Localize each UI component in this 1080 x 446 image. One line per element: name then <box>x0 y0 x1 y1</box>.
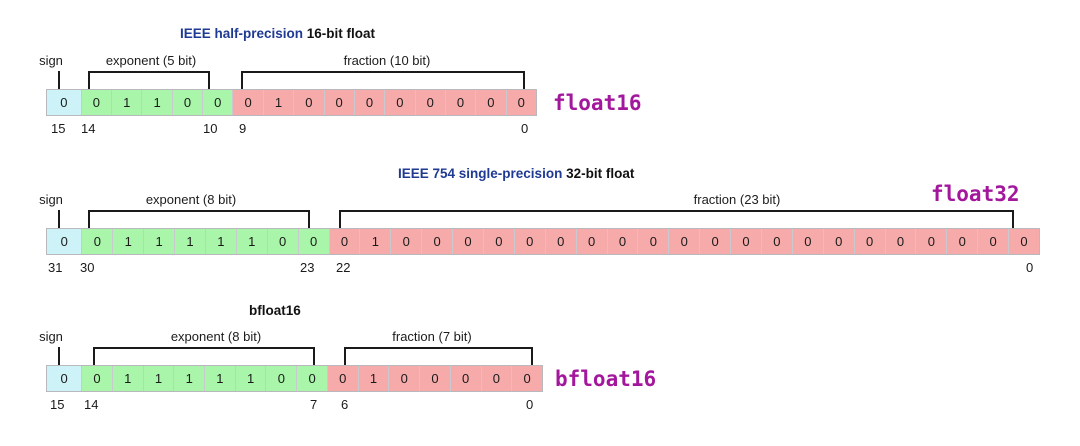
exp-bit-cell: 0 <box>82 229 113 254</box>
index-fraction-msb-bfloat16: 6 <box>341 398 348 411</box>
frac-bit-cell: 0 <box>512 366 542 391</box>
exp-bit-cell: 1 <box>144 229 175 254</box>
exponent-field-label-float32: exponent (8 bit) <box>116 193 266 206</box>
frac-bit-cell: 0 <box>420 366 451 391</box>
fraction-bracket-float16 <box>241 71 525 89</box>
frac-bit-cell: 0 <box>855 229 886 254</box>
format-title-float16: IEEE half-precision 16-bit float <box>180 27 375 41</box>
frac-bit-cell: 0 <box>700 229 731 254</box>
sign-field-label-bfloat16: sign <box>31 330 71 343</box>
frac-bit-cell: 0 <box>330 229 361 254</box>
format-title-accent: IEEE half-precision <box>180 26 303 41</box>
exp-bit-cell: 1 <box>142 90 172 115</box>
exp-bit-cell: 1 <box>236 366 267 391</box>
sign-tick-float32 <box>58 210 60 228</box>
frac-bit-cell: 0 <box>233 90 263 115</box>
exp-bit-cell: 0 <box>173 90 203 115</box>
exponent-field-label-bfloat16: exponent (8 bit) <box>141 330 291 343</box>
exp-bit-cell: 0 <box>82 366 113 391</box>
frac-bit-cell: 0 <box>476 90 506 115</box>
frac-bit-cell: 0 <box>762 229 793 254</box>
sign-bit-cell: 0 <box>47 229 82 254</box>
type-name-float32: float32 <box>931 184 1020 205</box>
exp-bit-cell: 1 <box>237 229 268 254</box>
frac-bit-cell: 0 <box>482 366 513 391</box>
exp-bit-cell: 1 <box>206 229 237 254</box>
exp-bit-cell: 1 <box>175 229 206 254</box>
frac-bit-cell: 0 <box>793 229 824 254</box>
bit-bar-float16: 0011000100000000 <box>46 89 537 116</box>
frac-bit-cell: 1 <box>359 366 390 391</box>
sign-field-label-float32: sign <box>31 193 71 206</box>
float-formats-diagram: IEEE half-precision 16-bit float sign ex… <box>0 0 1080 446</box>
sign-bit-cell: 0 <box>47 366 82 391</box>
frac-bit-cell: 0 <box>391 229 422 254</box>
frac-bit-cell: 0 <box>328 366 359 391</box>
frac-bit-cell: 0 <box>1009 229 1039 254</box>
frac-bit-cell: 0 <box>294 90 324 115</box>
exp-bit-cell: 1 <box>113 366 144 391</box>
exp-bit-cell: 1 <box>174 366 205 391</box>
frac-bit-cell: 0 <box>446 90 476 115</box>
frac-bit-cell: 0 <box>451 366 482 391</box>
frac-bit-cell: 0 <box>916 229 947 254</box>
format-title-rest: 16-bit float <box>303 26 375 41</box>
frac-bit-cell: 0 <box>731 229 762 254</box>
frac-bit-cell: 0 <box>638 229 669 254</box>
bit-bar-bfloat16: 0011111000100000 <box>46 365 543 392</box>
index-sign-msb-float16: 15 <box>51 122 65 135</box>
exp-bit-cell: 0 <box>299 229 330 254</box>
exp-bit-cell: 0 <box>268 229 299 254</box>
fraction-bracket-bfloat16 <box>344 347 533 365</box>
exp-bit-cell: 0 <box>266 366 297 391</box>
fraction-bracket-float32 <box>339 210 1014 228</box>
frac-bit-cell: 0 <box>608 229 639 254</box>
frac-bit-cell: 0 <box>507 90 536 115</box>
frac-bit-cell: 0 <box>978 229 1009 254</box>
index-sign-msb-float32: 31 <box>48 261 62 274</box>
frac-bit-cell: 0 <box>824 229 855 254</box>
exp-bit-cell: 1 <box>112 90 142 115</box>
index-fraction-lsb-bfloat16: 0 <box>526 398 533 411</box>
index-fraction-msb-float32: 22 <box>336 261 350 274</box>
exp-bit-cell: 1 <box>144 366 175 391</box>
sign-tick-float16 <box>58 71 60 89</box>
fraction-field-label-bfloat16: fraction (7 bit) <box>352 330 512 343</box>
exp-bit-cell: 1 <box>113 229 144 254</box>
frac-bit-cell: 0 <box>886 229 917 254</box>
index-exponent-msb-float16: 14 <box>81 122 95 135</box>
type-name-bfloat16: bfloat16 <box>555 369 656 390</box>
exp-bit-cell: 0 <box>82 90 112 115</box>
exponent-field-label-float16: exponent (5 bit) <box>76 54 226 67</box>
exp-bit-cell: 0 <box>203 90 233 115</box>
bit-bar-float32: 00111110001000000000000000000000 <box>46 228 1040 255</box>
format-title-float32: IEEE 754 single-precision 32-bit float <box>398 167 634 181</box>
frac-bit-cell: 0 <box>389 366 420 391</box>
index-exponent-lsb-float32: 23 <box>300 261 314 274</box>
frac-bit-cell: 0 <box>947 229 978 254</box>
exponent-bracket-float16 <box>88 71 210 89</box>
frac-bit-cell: 0 <box>325 90 355 115</box>
index-fraction-lsb-float32: 0 <box>1026 261 1033 274</box>
sign-bit-cell: 0 <box>47 90 82 115</box>
exp-bit-cell: 0 <box>297 366 328 391</box>
frac-bit-cell: 1 <box>360 229 391 254</box>
fraction-field-label-float16: fraction (10 bit) <box>307 54 467 67</box>
exp-bit-cell: 1 <box>205 366 236 391</box>
frac-bit-cell: 0 <box>484 229 515 254</box>
exponent-bracket-float32 <box>88 210 310 228</box>
index-exponent-lsb-bfloat16: 7 <box>310 398 317 411</box>
frac-bit-cell: 0 <box>355 90 385 115</box>
frac-bit-cell: 0 <box>385 90 415 115</box>
sign-tick-bfloat16 <box>58 347 60 365</box>
fraction-field-label-float32: fraction (23 bit) <box>657 193 817 206</box>
exponent-bracket-bfloat16 <box>93 347 315 365</box>
frac-bit-cell: 0 <box>416 90 446 115</box>
index-exponent-lsb-float16: 10 <box>203 122 217 135</box>
index-fraction-msb-float16: 9 <box>239 122 246 135</box>
format-title-rest: 32-bit float <box>562 166 634 181</box>
format-title-accent: IEEE 754 single-precision <box>398 166 562 181</box>
type-name-float16: float16 <box>553 93 642 114</box>
frac-bit-cell: 0 <box>669 229 700 254</box>
frac-bit-cell: 0 <box>515 229 546 254</box>
frac-bit-cell: 0 <box>577 229 608 254</box>
frac-bit-cell: 0 <box>546 229 577 254</box>
frac-bit-cell: 0 <box>453 229 484 254</box>
sign-field-label-float16: sign <box>31 54 71 67</box>
format-title-bfloat16: bfloat16 <box>249 304 301 318</box>
index-fraction-lsb-float16: 0 <box>521 122 528 135</box>
index-sign-msb-bfloat16: 15 <box>50 398 64 411</box>
index-exponent-msb-bfloat16: 14 <box>84 398 98 411</box>
index-exponent-msb-float32: 30 <box>80 261 94 274</box>
format-title-rest: bfloat16 <box>249 303 301 318</box>
frac-bit-cell: 0 <box>422 229 453 254</box>
frac-bit-cell: 1 <box>264 90 294 115</box>
